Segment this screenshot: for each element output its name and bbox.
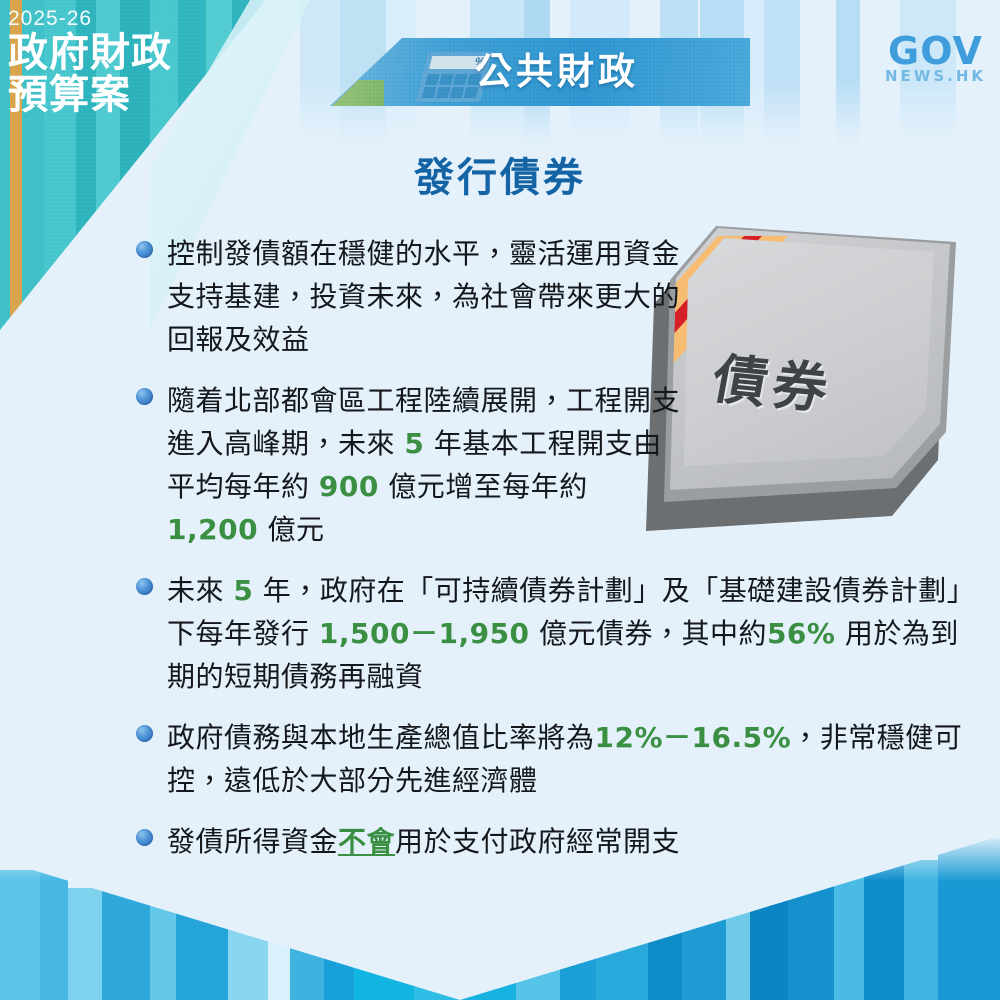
budget-year: 2025-26	[8, 8, 238, 29]
govhk-news-logo[interactable]: GOV NEWS.HK	[885, 34, 986, 84]
highlight-number: 56%	[767, 617, 836, 650]
bullet-text: 控制發債額在穩健的水平，靈活運用資金支持基建，投資未來，為社會帶來更大的回報及效…	[167, 232, 687, 361]
bullet-list: 控制發債額在穩健的水平，靈活運用資金支持基建，投資未來，為社會帶來更大的回報及效…	[136, 232, 966, 881]
page-title: 發行債券	[0, 145, 1000, 203]
logo-main-text: GOV	[885, 34, 986, 68]
bullet-dot-icon	[136, 829, 153, 846]
bullet-text-run: 億元債券，其中約	[530, 617, 767, 650]
bullet-debt-level: 控制發債額在穩健的水平，靈活運用資金支持基建，投資未來，為社會帶來更大的回報及效…	[136, 232, 966, 361]
bullet-northern-metropolis: 隨着北部都會區工程陸續展開，工程開支進入高峰期，未來 5 年基本工程開支由平均每…	[136, 379, 966, 551]
bullet-text-run: 未來	[167, 574, 233, 607]
budget-header: 2025-26 政府財政 預算案	[8, 8, 238, 116]
bullet-text: 發債所得資金不會用於支付政府經常開支	[167, 820, 966, 863]
highlight-number: 12%－16.5%	[595, 721, 792, 754]
bullet-text: 政府債務與本地生產總值比率將為12%－16.5%，非常穩健可控，遠低於大部分先進…	[167, 716, 966, 802]
logo-sub-text: NEWS.HK	[885, 68, 986, 84]
budget-title-line2: 預算案	[8, 75, 238, 117]
section-banner: % 公共財政	[330, 38, 750, 106]
bullet-text-run: 控制發債額在穩健的水平，靈活運用資金支持基建，投資未來，為社會帶來更大的回報及效…	[167, 237, 680, 356]
bullet-dot-icon	[136, 578, 153, 595]
highlight-negation: 不會	[338, 825, 395, 858]
bullet-debt-to-gdp: 政府債務與本地生產總值比率將為12%－16.5%，非常穩健可控，遠低於大部分先進…	[136, 716, 966, 802]
bullet-dot-icon	[136, 241, 153, 258]
bullet-dot-icon	[136, 725, 153, 742]
bullet-text: 未來 5 年，政府在「可持續債券計劃」及「基礎建設債券計劃」下每年發行 1,50…	[167, 569, 966, 698]
infographic-canvas: 2025-26 政府財政 預算案 % 公共財政 GOV NEWS.HK 發行債券	[0, 0, 1000, 1000]
budget-title-line1: 政府財政	[8, 33, 238, 75]
bullet-text-run: 政府債務與本地生產總值比率將為	[167, 721, 595, 754]
bullet-dot-icon	[136, 388, 153, 405]
banner-label: 公共財政	[475, 43, 639, 101]
highlight-number: 5	[233, 574, 253, 607]
bullet-text-run: 發債所得資金	[167, 825, 338, 858]
bullet-text: 隨着北部都會區工程陸續展開，工程開支進入高峰期，未來 5 年基本工程開支由平均每…	[167, 379, 687, 551]
highlight-number: 5	[404, 427, 424, 460]
highlight-number: 1,200	[167, 513, 258, 546]
bullet-text-run: 億元增至每年約	[379, 470, 588, 503]
bullet-text-run: 億元	[258, 513, 324, 546]
highlight-number: 1,500－1,950	[319, 617, 530, 650]
highlight-number: 900	[319, 470, 379, 503]
bullet-not-recurrent: 發債所得資金不會用於支付政府經常開支	[136, 820, 966, 863]
bullet-text-run: 用於支付政府經常開支	[395, 825, 680, 858]
bullet-bond-programmes: 未來 5 年，政府在「可持續債券計劃」及「基礎建設債券計劃」下每年發行 1,50…	[136, 569, 966, 698]
